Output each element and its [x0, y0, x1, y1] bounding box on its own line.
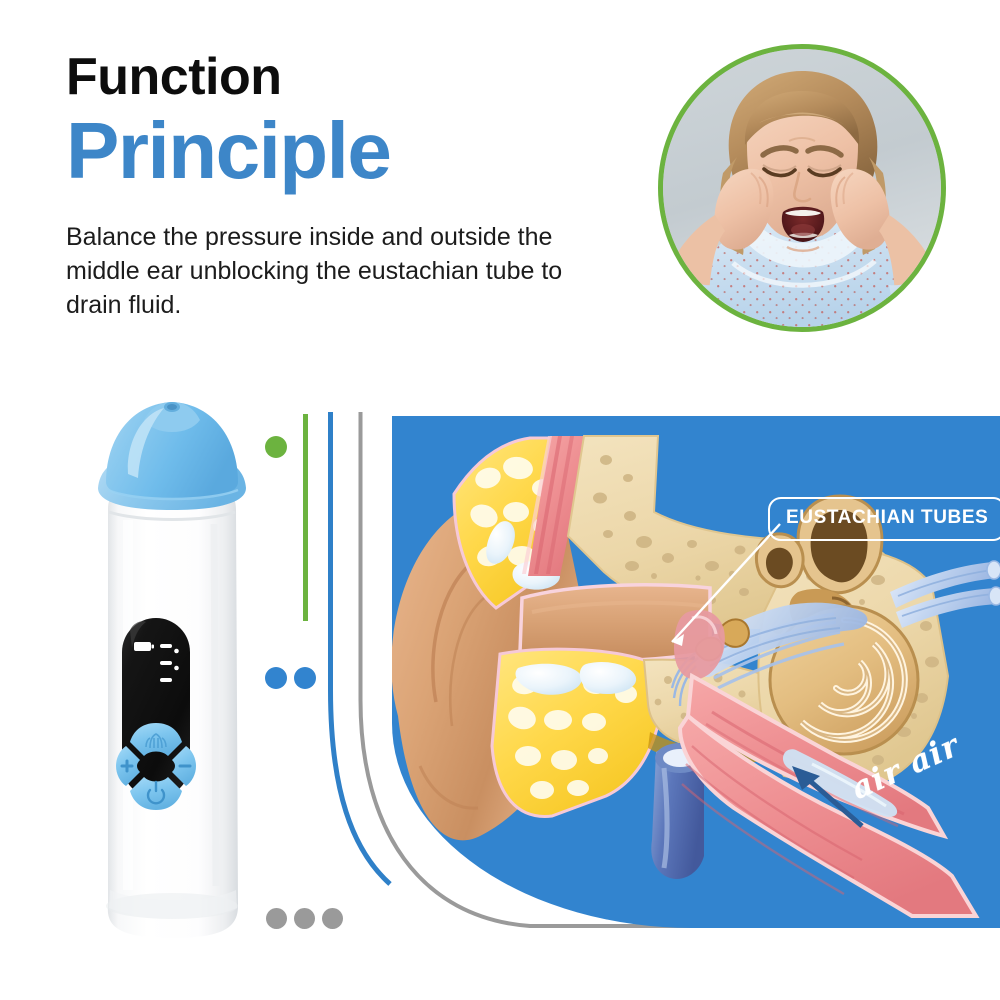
- decor-dot-gray-3: [322, 908, 343, 929]
- hero-photo: [658, 44, 946, 332]
- decor-dot-green: [265, 436, 287, 458]
- ear-anatomy-panel: [392, 416, 1000, 928]
- hero-photo-image: [663, 49, 941, 327]
- decor-line-green: [303, 414, 308, 621]
- headline-line-1: Function: [66, 48, 626, 106]
- eustachian-tubes-label: EUSTACHIAN TUBES: [768, 497, 1000, 541]
- decor-dot-blue-2: [294, 667, 316, 689]
- description-text: Balance the pressure inside and outside …: [66, 220, 611, 322]
- page-title: Function Principle: [66, 48, 626, 194]
- ear-anatomy-illustration: [392, 416, 1000, 928]
- nasal-aspirator-device: [80, 390, 265, 950]
- decor-dot-blue-1: [265, 667, 287, 689]
- decor-dot-gray-1: [266, 908, 287, 929]
- decor-dot-gray-2: [294, 908, 315, 929]
- infographic-canvas: Function Principle Balance the pressure …: [0, 0, 1000, 1000]
- headline-line-2: Principle: [66, 108, 626, 194]
